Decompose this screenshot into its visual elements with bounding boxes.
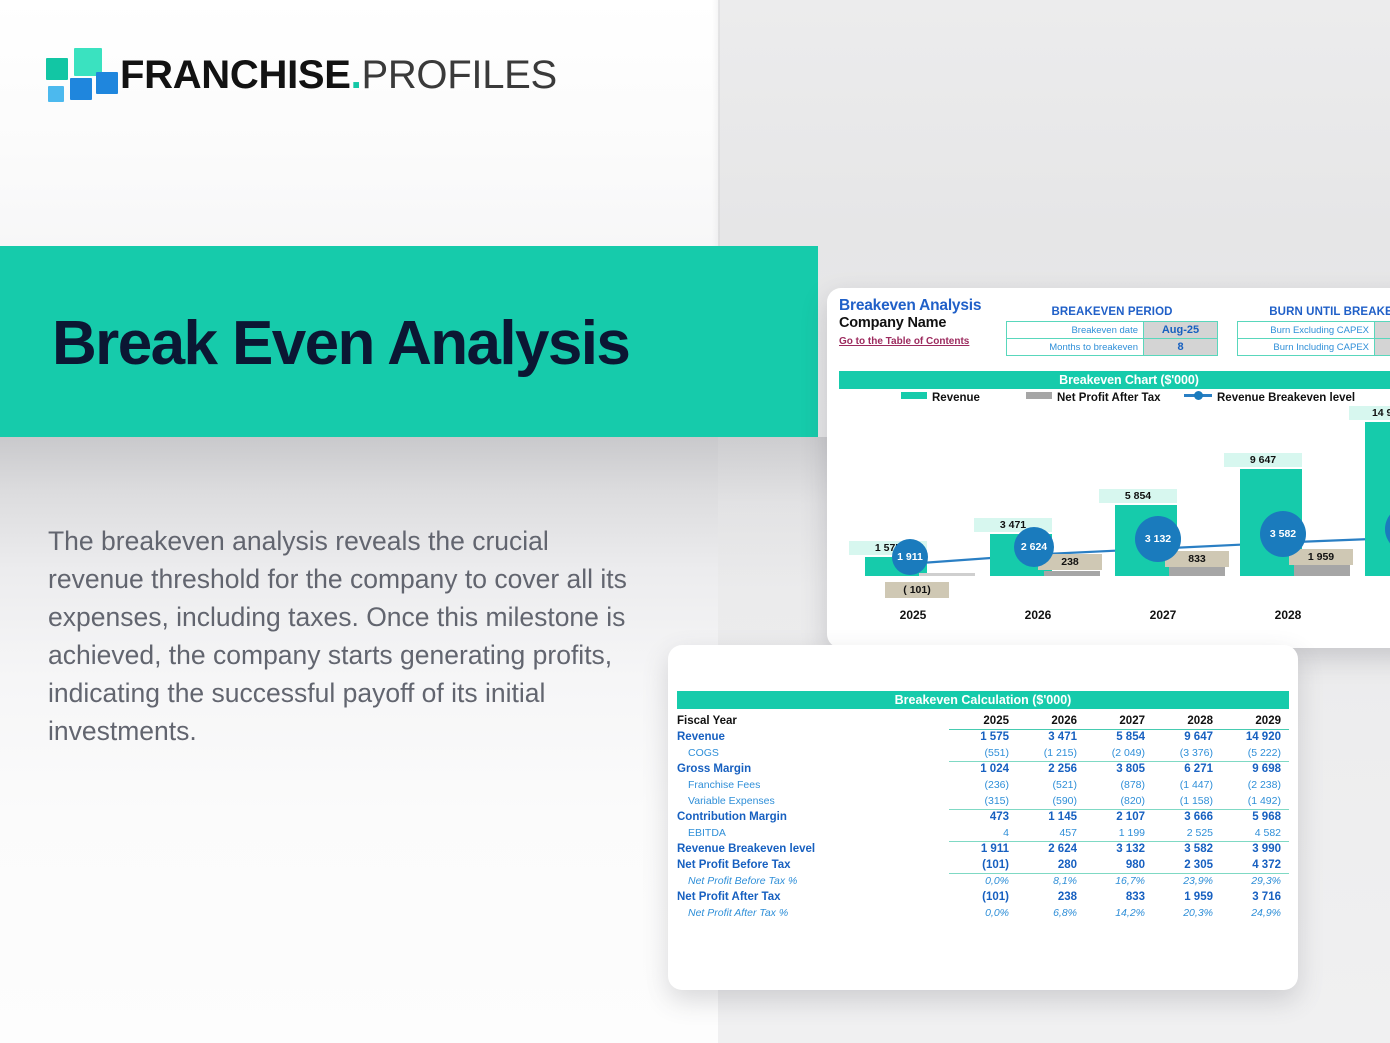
cell-value: (521) <box>1017 777 1085 793</box>
cell-value: 3 132 <box>1085 841 1153 857</box>
page-title: Break Even Analysis <box>52 298 629 390</box>
legend-item-revenue[interactable]: Revenue <box>901 392 980 404</box>
legend-label-revenue: Revenue <box>932 392 980 404</box>
cell-value: (1 215) <box>1017 745 1085 761</box>
row-label: COGS <box>677 745 949 761</box>
cell-value: (551) <box>949 745 1017 761</box>
logo-square-blue-small <box>48 86 64 102</box>
cell-value: 9 647 <box>1153 729 1221 745</box>
cell-value: 20,3% <box>1153 905 1221 921</box>
logo-square-blue-1 <box>70 78 92 100</box>
legend-label-net-profit: Net Profit After Tax <box>1057 392 1161 404</box>
bar-label-revenue-2029: 14 920 <box>1349 406 1390 420</box>
cell-value: 3 582 <box>1153 841 1221 857</box>
cell-value: (101) <box>949 857 1017 873</box>
table-row: COGS (551) (1 215) (2 049) (3 376) (5 22… <box>677 745 1289 761</box>
row-label: Net Profit After Tax <box>677 889 949 905</box>
bubble-breakeven-2027[interactable]: 3 132 <box>1135 516 1181 562</box>
x-axis-label-2026: 2026 <box>982 608 1094 622</box>
cell-value: 29,3% <box>1221 873 1289 889</box>
cell-value: 4 372 <box>1221 857 1289 873</box>
hero-description: The breakeven analysis reveals the cruci… <box>48 522 628 750</box>
cell-value: (5 222) <box>1221 745 1289 761</box>
burn-excluding-capex-label: Burn Excluding CAPEX <box>1238 322 1375 339</box>
cell-value: 2 525 <box>1153 825 1221 841</box>
burn-until-breakeven-block: BURN UNTIL BREAKEVEN Burn Excluding CAPE… <box>1237 306 1390 356</box>
table-banner: Breakeven Calculation ($'000) <box>677 691 1289 709</box>
cell-value: 1 959 <box>1153 889 1221 905</box>
table-row: Net Profit After Tax (101) 238 833 1 959… <box>677 889 1289 905</box>
cell-value: 24,9% <box>1221 905 1289 921</box>
cell-value: (3 376) <box>1153 745 1221 761</box>
row-label: Net Profit After Tax % <box>677 905 949 921</box>
bar-net-profit-2026[interactable] <box>1044 571 1100 576</box>
chart-legend: Revenue Net Profit After Tax Revenue Bre… <box>839 392 1390 408</box>
table-row: Contribution Margin 473 1 145 2 107 3 66… <box>677 809 1289 825</box>
cell-value: 6 271 <box>1153 761 1221 777</box>
column-header-2029: 2029 <box>1221 713 1289 729</box>
burn-until-breakeven-heading: BURN UNTIL BREAKEVEN <box>1237 306 1390 318</box>
column-header-2025: 2025 <box>949 713 1017 729</box>
cell-value: (2 049) <box>1085 745 1153 761</box>
logo-word-profiles: PROFILES <box>361 53 556 97</box>
burn-including-capex-value <box>1375 339 1390 356</box>
cell-value: 1 575 <box>949 729 1017 745</box>
table-row: EBITDA 4 457 1 199 2 525 4 582 <box>677 825 1289 841</box>
bar-label-revenue-2027: 5 854 <box>1099 489 1177 503</box>
column-header-2026: 2026 <box>1017 713 1085 729</box>
burn-excluding-capex-value <box>1375 322 1390 339</box>
cell-value: 23,9% <box>1153 873 1221 889</box>
background-left-top <box>0 0 718 246</box>
bubble-breakeven-2025[interactable]: 1 911 <box>892 539 928 575</box>
cell-value: 2 305 <box>1153 857 1221 873</box>
table-row: Net Profit Before Tax (101) 280 980 2 30… <box>677 857 1289 873</box>
cell-value: 2 107 <box>1085 809 1153 825</box>
legend-swatch-net-profit <box>1026 392 1052 399</box>
column-header-2028: 2028 <box>1153 713 1221 729</box>
bar-label-net-profit-2028: 1 959 <box>1289 549 1353 565</box>
table-row: Net Profit Before Tax % 0,0% 8,1% 16,7% … <box>677 873 1289 889</box>
table-row: Burn Including CAPEX <box>1238 339 1390 356</box>
bubble-breakeven-2028[interactable]: 3 582 <box>1260 511 1306 557</box>
burn-until-breakeven-table: Burn Excluding CAPEX Burn Including CAPE… <box>1237 321 1390 356</box>
x-axis-label-2029: 2029 <box>1357 608 1390 622</box>
cell-value: 14 920 <box>1221 729 1289 745</box>
cell-value: 4 <box>949 825 1017 841</box>
legend-item-net-profit-after-tax[interactable]: Net Profit After Tax <box>1026 392 1161 404</box>
column-header-fiscal-year: Fiscal Year <box>677 713 949 729</box>
table-row: Net Profit After Tax % 0,0% 6,8% 14,2% 2… <box>677 905 1289 921</box>
table-of-contents-link[interactable]: Go to the Table of Contents <box>839 336 969 347</box>
cell-value: 9 698 <box>1221 761 1289 777</box>
breakeven-calculation-card: Breakeven Calculation ($'000) Fiscal Yea… <box>668 645 1298 990</box>
brand-logo: FRANCHISE.PROFILES <box>46 44 546 106</box>
logo-square-blue-2 <box>96 72 118 94</box>
table-row: Gross Margin 1 024 2 256 3 805 6 271 9 6… <box>677 761 1289 777</box>
burn-including-capex-label: Burn Including CAPEX <box>1238 339 1375 356</box>
breakeven-calculation-table: Fiscal Year 2025 2026 2027 2028 2029 Rev… <box>677 713 1289 921</box>
breakeven-period-block: BREAKEVEN PERIOD Breakeven date Aug-25 M… <box>1006 306 1218 356</box>
table-header-row: Fiscal Year 2025 2026 2027 2028 2029 <box>677 713 1289 729</box>
cell-value: 0,0% <box>949 873 1017 889</box>
table-row: Breakeven date Aug-25 <box>1007 322 1218 339</box>
row-label: Contribution Margin <box>677 809 949 825</box>
background-edge-shade <box>712 0 720 246</box>
bubble-breakeven-2026[interactable]: 2 624 <box>1014 527 1054 567</box>
cell-value: 1 024 <box>949 761 1017 777</box>
cell-value: (590) <box>1017 793 1085 809</box>
bar-revenue-2029[interactable] <box>1365 422 1390 576</box>
table-row: Revenue Breakeven level 1 911 2 624 3 13… <box>677 841 1289 857</box>
chart-plot-area: 1 575 ( 101) 1 911 2025 3 471 238 2 624 … <box>839 414 1390 604</box>
logo-word-franchise: FRANCHISE <box>120 53 351 97</box>
breakeven-period-table: Breakeven date Aug-25 Months to breakeve… <box>1006 321 1218 356</box>
cell-value: 980 <box>1085 857 1153 873</box>
breakeven-date-value: Aug-25 <box>1144 322 1218 339</box>
cell-value: 280 <box>1017 857 1085 873</box>
cell-value: 8,1% <box>1017 873 1085 889</box>
table-row: Months to breakeven 8 <box>1007 339 1218 356</box>
cell-value: (1 158) <box>1153 793 1221 809</box>
cell-value: 457 <box>1017 825 1085 841</box>
cell-value: 1 199 <box>1085 825 1153 841</box>
cell-value: 833 <box>1085 889 1153 905</box>
legend-swatch-revenue <box>901 392 927 399</box>
legend-marker-line-dot <box>1184 394 1212 397</box>
table-row: Franchise Fees (236) (521) (878) (1 447)… <box>677 777 1289 793</box>
row-label: Variable Expenses <box>677 793 949 809</box>
table-row: Revenue 1 575 3 471 5 854 9 647 14 920 <box>677 729 1289 745</box>
chart-banner: Breakeven Chart ($'000) <box>839 371 1390 389</box>
cell-value: 5 854 <box>1085 729 1153 745</box>
cell-value: 1 911 <box>949 841 1017 857</box>
cell-value: 473 <box>949 809 1017 825</box>
cell-value: 238 <box>1017 889 1085 905</box>
cell-value: 2 624 <box>1017 841 1085 857</box>
months-to-breakeven-label: Months to breakeven <box>1007 339 1144 356</box>
breakeven-date-label: Breakeven date <box>1007 322 1144 339</box>
logo-separator-dot: . <box>351 53 362 97</box>
cell-value: 14,2% <box>1085 905 1153 921</box>
legend-label-breakeven-level: Revenue Breakeven level <box>1217 392 1355 404</box>
cell-value: 16,7% <box>1085 873 1153 889</box>
row-label: Franchise Fees <box>677 777 949 793</box>
cell-value: 3 716 <box>1221 889 1289 905</box>
cell-value: (2 238) <box>1221 777 1289 793</box>
logo-squares-icon <box>46 48 114 102</box>
slide-root: FRANCHISE.PROFILES Break Even Analysis T… <box>0 0 1390 1043</box>
logo-wordmark: FRANCHISE.PROFILES <box>120 44 557 106</box>
cell-value: 3 805 <box>1085 761 1153 777</box>
table-row: Burn Excluding CAPEX <box>1238 322 1390 339</box>
months-to-breakeven-value: 8 <box>1144 339 1218 356</box>
cell-value: 1 145 <box>1017 809 1085 825</box>
column-header-2027: 2027 <box>1085 713 1153 729</box>
cell-value: (1 447) <box>1153 777 1221 793</box>
bar-label-revenue-2028: 9 647 <box>1224 453 1302 467</box>
legend-item-breakeven-level[interactable]: Revenue Breakeven level <box>1184 392 1355 404</box>
cell-value: 2 256 <box>1017 761 1085 777</box>
cell-value: (315) <box>949 793 1017 809</box>
cell-value: 3 990 <box>1221 841 1289 857</box>
cell-value: (820) <box>1085 793 1153 809</box>
row-label: Net Profit Before Tax <box>677 857 949 873</box>
cell-value: (101) <box>949 889 1017 905</box>
x-axis-label-2028: 2028 <box>1232 608 1344 622</box>
breakeven-period-heading: BREAKEVEN PERIOD <box>1006 306 1218 318</box>
bar-label-net-profit-2025: ( 101) <box>885 582 949 598</box>
row-label: Revenue <box>677 729 949 745</box>
table-row: Variable Expenses (315) (590) (820) (1 1… <box>677 793 1289 809</box>
x-axis-label-2025: 2025 <box>857 608 969 622</box>
cell-value: (878) <box>1085 777 1153 793</box>
logo-square-teal-dark <box>46 58 68 80</box>
breakeven-chart-card: Breakeven Analysis Company Name Go to th… <box>827 288 1390 648</box>
row-label: Gross Margin <box>677 761 949 777</box>
row-label: EBITDA <box>677 825 949 841</box>
cell-value: 3 666 <box>1153 809 1221 825</box>
row-label: Revenue Breakeven level <box>677 841 949 857</box>
x-axis-label-2027: 2027 <box>1107 608 1219 622</box>
row-label: Net Profit Before Tax % <box>677 873 949 889</box>
bar-net-profit-2025[interactable] <box>919 573 975 576</box>
cell-value: 4 582 <box>1221 825 1289 841</box>
cell-value: 6,8% <box>1017 905 1085 921</box>
cell-value: 5 968 <box>1221 809 1289 825</box>
cell-value: (1 492) <box>1221 793 1289 809</box>
cell-value: 0,0% <box>949 905 1017 921</box>
cell-value: (236) <box>949 777 1017 793</box>
cell-value: 3 471 <box>1017 729 1085 745</box>
